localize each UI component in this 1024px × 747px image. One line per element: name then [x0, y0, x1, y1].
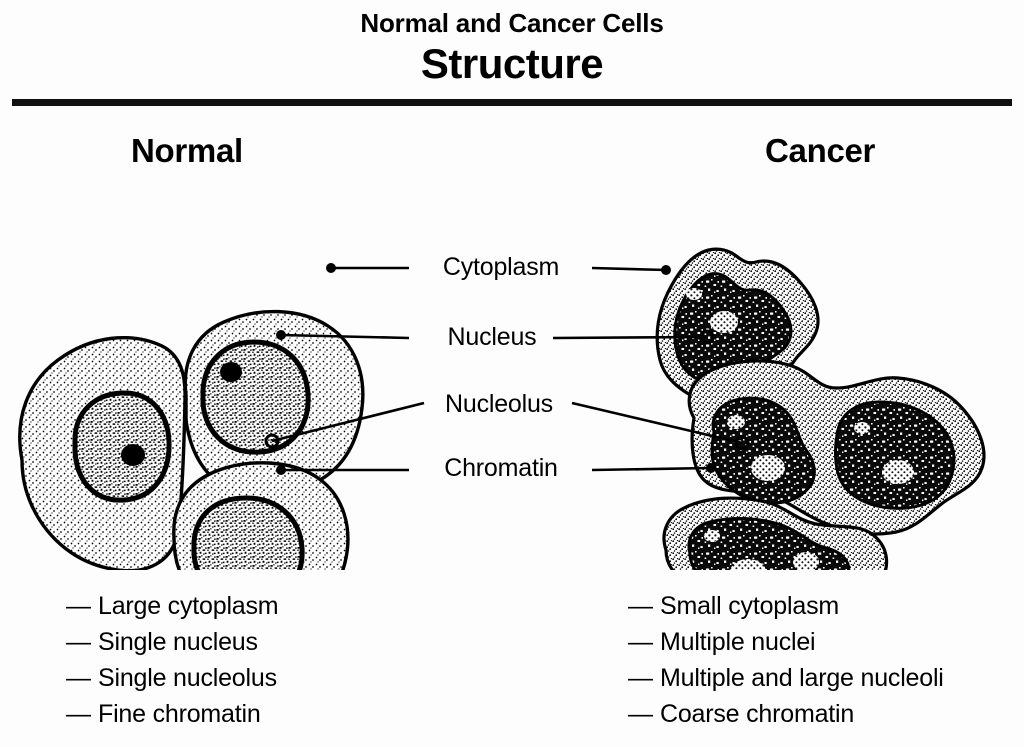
cancer-cell-group [657, 249, 984, 570]
nucleus-outline [75, 393, 169, 500]
leader-nucleus-right [553, 337, 707, 338]
nucleolus-blob [882, 460, 914, 484]
dash-icon: — [628, 696, 660, 732]
list-item: — Coarse chromatin [628, 696, 944, 732]
list-item-label: Large cytoplasm [98, 588, 278, 624]
cancer-feature-list: — Small cytoplasm — Multiple nuclei — Mu… [628, 588, 944, 732]
list-item-label: Multiple nuclei [660, 624, 815, 660]
normal-feature-list: — Large cytoplasm — Single nucleus — Sin… [66, 588, 278, 732]
list-item: — Multiple and large nucleoli [628, 660, 944, 696]
leader-cytoplasm-right [592, 268, 666, 270]
title-block: Normal and Cancer Cells Structure [0, 8, 1024, 88]
list-item-label: Fine chromatin [98, 696, 261, 732]
subtitle: Normal and Cancer Cells [0, 8, 1024, 38]
dash-icon: — [66, 660, 98, 696]
dash-icon: — [628, 624, 660, 660]
diagram-page: Normal and Cancer Cells Structure Normal… [0, 0, 1024, 747]
nucleolus-blob [710, 311, 738, 333]
leader-endpoint-dot [326, 263, 336, 273]
callout-label-chromatin: Chromatin [444, 454, 558, 483]
list-item-label: Coarse chromatin [660, 696, 854, 732]
nucleolus-blob [220, 362, 242, 382]
list-item: — Small cytoplasm [628, 588, 944, 624]
callout-label-nucleus: Nucleus [448, 323, 537, 352]
nucleolus-blob [727, 415, 745, 429]
list-item: — Large cytoplasm [66, 588, 278, 624]
leader-endpoint-dot [661, 265, 671, 275]
dash-icon: — [66, 588, 98, 624]
list-item: — Fine chromatin [66, 696, 278, 732]
nucleolus-blob [686, 288, 702, 300]
list-item: — Multiple nuclei [628, 624, 944, 660]
nucleolus-blob [751, 455, 785, 481]
page-title: Structure [0, 40, 1024, 88]
dash-icon: — [628, 660, 660, 696]
normal-cell-3 [174, 463, 348, 570]
cell-illustration [0, 150, 1024, 570]
list-item-label: Small cytoplasm [660, 588, 839, 624]
dash-icon: — [66, 624, 98, 660]
normal-cell-1 [20, 338, 185, 570]
list-item-label: Single nucleus [98, 624, 258, 660]
nucleolus-blob [704, 530, 720, 542]
leader-endpoint-dot [276, 330, 286, 340]
callout-label-cytoplasm: Cytoplasm [443, 253, 559, 282]
list-item: — Single nucleolus [66, 660, 278, 696]
leader-chromatin-right [592, 468, 711, 470]
list-item-label: Multiple and large nucleoli [660, 660, 944, 696]
list-item-label: Single nucleolus [98, 660, 277, 696]
nucleolus-blob [121, 444, 145, 466]
normal-cell-group [20, 312, 363, 570]
dash-icon: — [66, 696, 98, 732]
header-divider [12, 99, 1012, 106]
list-item: — Single nucleus [66, 624, 278, 660]
nucleolus-blob [854, 422, 870, 434]
leader-endpoint-dot [276, 465, 286, 475]
leader-endpoint-dot [706, 463, 716, 473]
callout-label-nucleolus: Nucleolus [445, 390, 553, 419]
dash-icon: — [628, 588, 660, 624]
